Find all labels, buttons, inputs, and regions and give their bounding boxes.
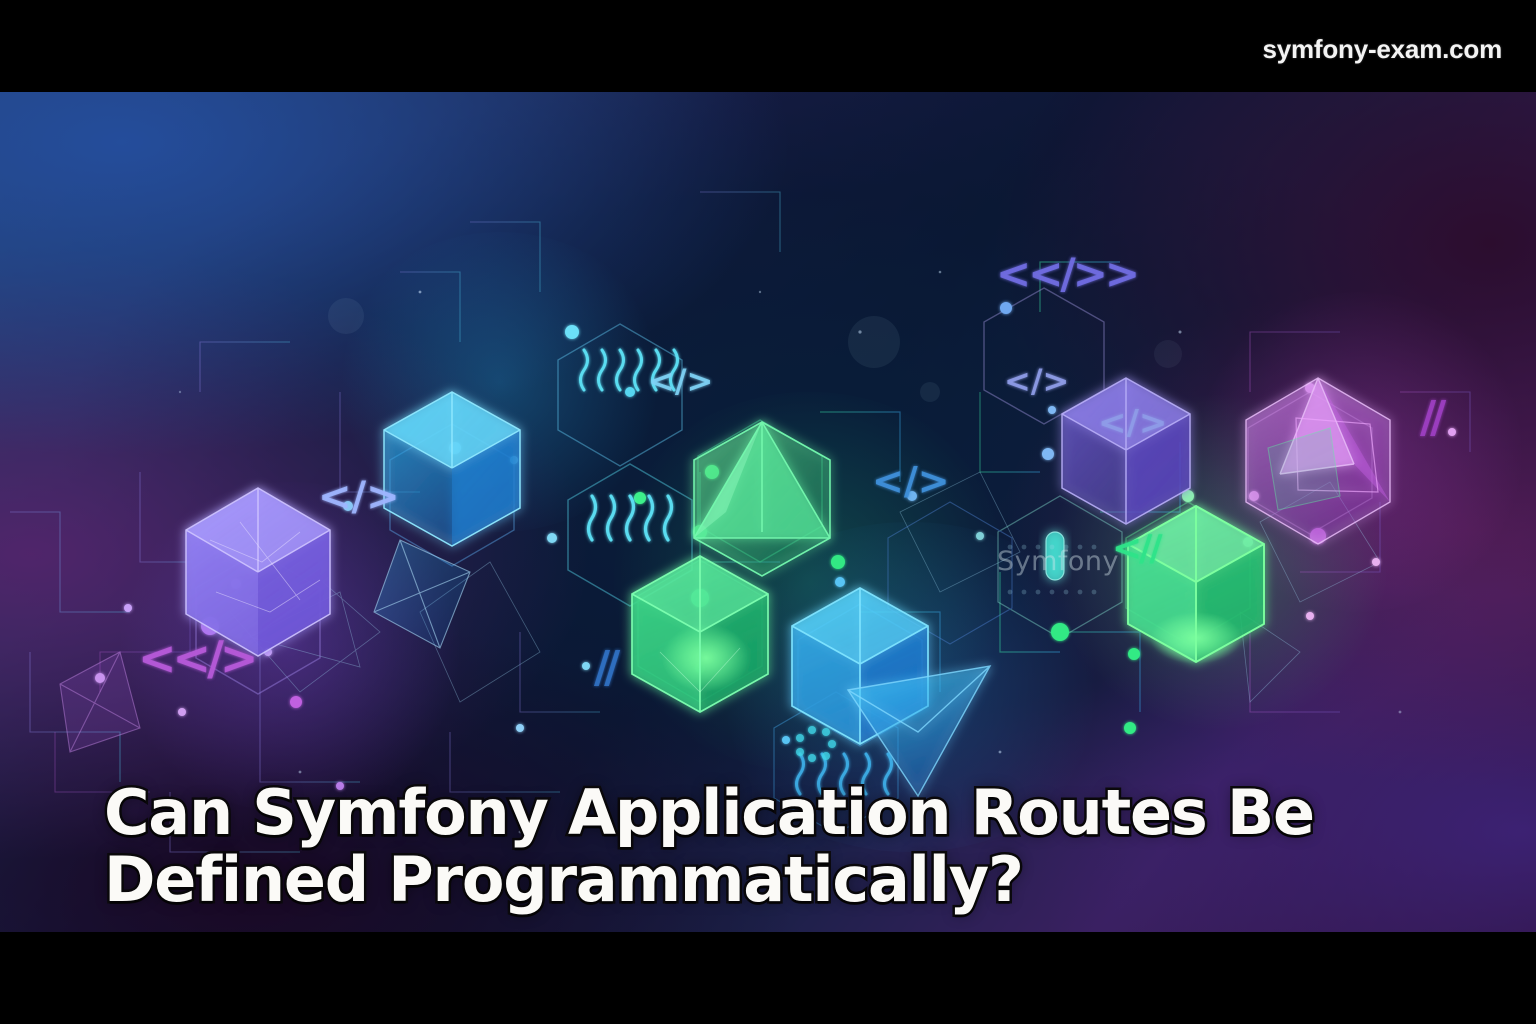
hero-banner: Symfony </> </> </> </> <</>> bbox=[0, 0, 1536, 1024]
page-title: Can Symfony Application Routes Be Define… bbox=[104, 780, 1464, 914]
crystal-violet-farleft bbox=[60, 652, 140, 752]
code-brackets-glyph-hex: <</>> bbox=[996, 249, 1137, 298]
squiggle-mark-center bbox=[589, 496, 672, 540]
artwork-background: Symfony </> </> </> </> <</>> bbox=[0, 92, 1536, 932]
bottom-letterbox-bar bbox=[0, 932, 1536, 1024]
code-brackets-glyph-hex2: </> bbox=[1098, 403, 1167, 443]
page-title-line-1: Can Symfony Application Routes Be bbox=[104, 780, 1464, 847]
svg-text:Symfony: Symfony bbox=[997, 546, 1119, 577]
site-name-watermark: symfony-exam.com bbox=[1262, 34, 1502, 65]
crystal-green-pyramid bbox=[694, 422, 830, 576]
crystal-blue-midleft bbox=[374, 540, 470, 648]
crystal-green-cube bbox=[632, 556, 768, 712]
crystal-cyan-upperleft bbox=[384, 392, 520, 546]
symfony-watermark: Symfony bbox=[997, 545, 1119, 595]
code-comment-glyph-magenta: // bbox=[1420, 392, 1447, 443]
code-brackets-glyph-right: </> bbox=[1004, 362, 1069, 400]
code-brackets-glyph-center: </> bbox=[872, 459, 950, 503]
code-brackets-glyph-magenta: <</> bbox=[138, 631, 254, 685]
page-title-line-2: Defined Programmatically? bbox=[104, 847, 1464, 914]
code-brackets-glyph-upper: </> bbox=[648, 362, 713, 400]
code-brackets-glyph-left: </> bbox=[318, 474, 400, 520]
code-comment-glyph-blue: // bbox=[594, 642, 621, 693]
code-comment-glyph-green: <// bbox=[1112, 528, 1163, 569]
crystal-violet-right-center bbox=[1062, 378, 1190, 524]
